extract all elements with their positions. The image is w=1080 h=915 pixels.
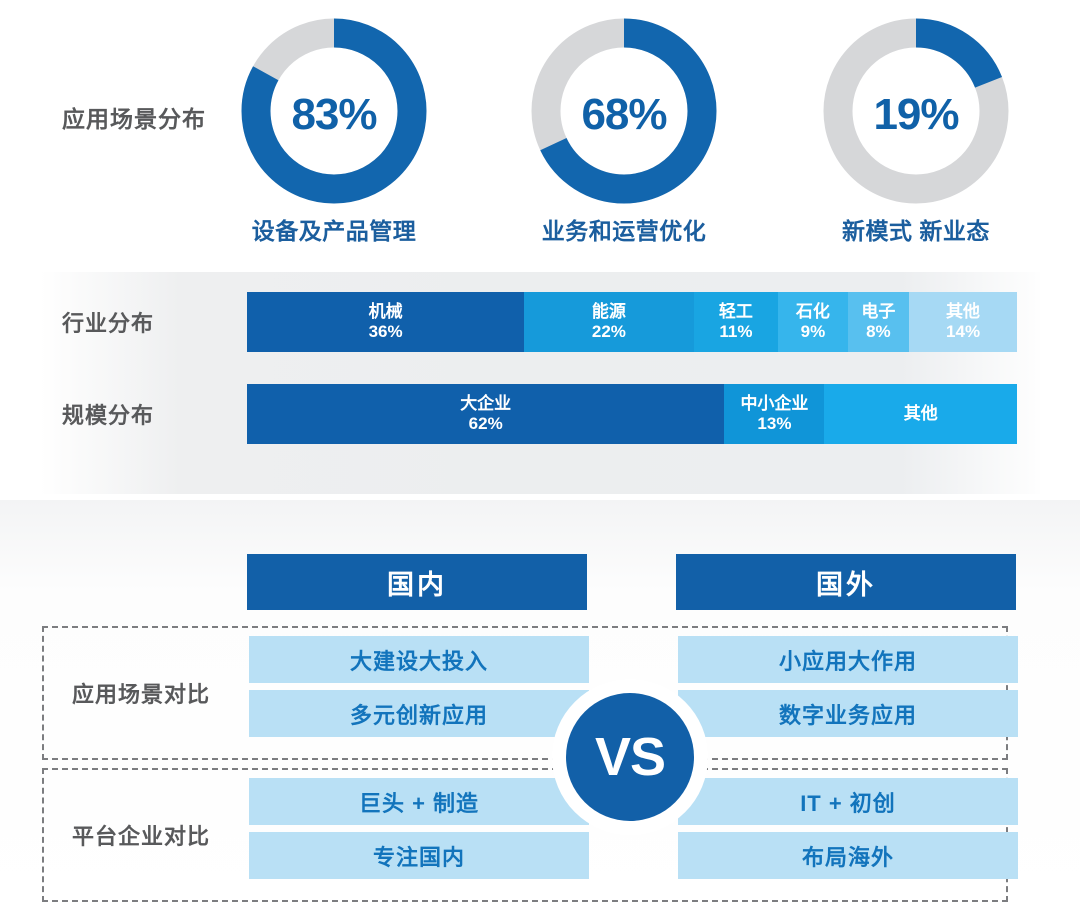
donut-percent-value: 19% [796,90,1036,140]
industry-row-label: 行业分布 [62,292,232,352]
bar-segment-large-enterprise: 大企业62% [247,384,724,444]
bar-segment-electronics: 电子8% [848,292,910,352]
donut-chart-new-models: 19% 新模式 新业态 [796,18,1036,248]
industry-stacked-bar: 机械36% 能源22% 轻工11% 石化9% 电子8% 其他14% [247,292,1017,352]
donut-caption: 业务和运营优化 [504,212,744,246]
comparison-cell-domestic: 多元创新应用 [249,690,589,737]
column-header-domestic: 国内 [247,554,587,610]
comparison-group-label: 应用场景对比 [72,628,262,758]
comparison-group-platform: 平台企业对比 巨头 + 制造 专注国内 IT + 初创 布局海外 [42,768,1008,902]
bar-segment-other: 其他14% [909,292,1017,352]
application-scenario-donut-section: 应用场景分布 83% 设备及产品管理 68% 业务和运营优化 19% 新模式 新 [0,0,1080,262]
comparison-cell-overseas: 小应用大作用 [678,636,1018,683]
bar-segment-energy: 能源22% [524,292,693,352]
scale-stacked-bar: 大企业62% 中小企业13% 其他 [247,384,1017,444]
donut-caption: 新模式 新业态 [796,212,1036,246]
comparison-cell-domestic: 巨头 + 制造 [249,778,589,825]
comparison-cell-overseas: 布局海外 [678,832,1018,879]
bar-segment-sme: 中小企业13% [724,384,824,444]
comparison-group-label: 平台企业对比 [72,770,262,900]
comparison-group-scenario: 应用场景对比 大建设大投入 多元创新应用 小应用大作用 数字业务应用 [42,626,1008,760]
infographic-root: 应用场景分布 83% 设备及产品管理 68% 业务和运营优化 19% 新模式 新 [0,0,1080,915]
bar-segment-machinery: 机械36% [247,292,524,352]
bar-segment-light-industry: 轻工11% [694,292,779,352]
industry-distribution-row: 行业分布 机械36% 能源22% 轻工11% 石化9% 电子8% 其 [40,292,1040,352]
donut-percent-value: 68% [504,90,744,140]
scale-distribution-row: 规模分布 大企业62% 中小企业13% 其他 [40,384,1040,444]
comparison-cell-domestic: 专注国内 [249,832,589,879]
comparison-cell-domestic: 大建设大投入 [249,636,589,683]
comparison-cell-overseas: IT + 初创 [678,778,1018,825]
domestic-overseas-comparison-section: 国内 国外 应用场景对比 大建设大投入 多元创新应用 小应用大作用 数字业务应用… [0,500,1080,915]
donut-row-label: 应用场景分布 [62,100,206,134]
donut-caption: 设备及产品管理 [214,212,454,246]
comparison-cell-overseas: 数字业务应用 [678,690,1018,737]
bar-segment-petrochemical: 石化9% [778,292,847,352]
donut-chart-equipment: 83% 设备及产品管理 [214,18,454,248]
vs-badge: VS [566,693,694,821]
donut-chart-operations: 68% 业务和运营优化 [504,18,744,248]
bar-segment-scale-other: 其他 [824,384,1017,444]
column-header-overseas: 国外 [676,554,1016,610]
donut-percent-value: 83% [214,90,454,140]
scale-row-label: 规模分布 [62,384,232,444]
distribution-bars-section: 行业分布 机械36% 能源22% 轻工11% 石化9% 电子8% 其 [40,272,1040,494]
